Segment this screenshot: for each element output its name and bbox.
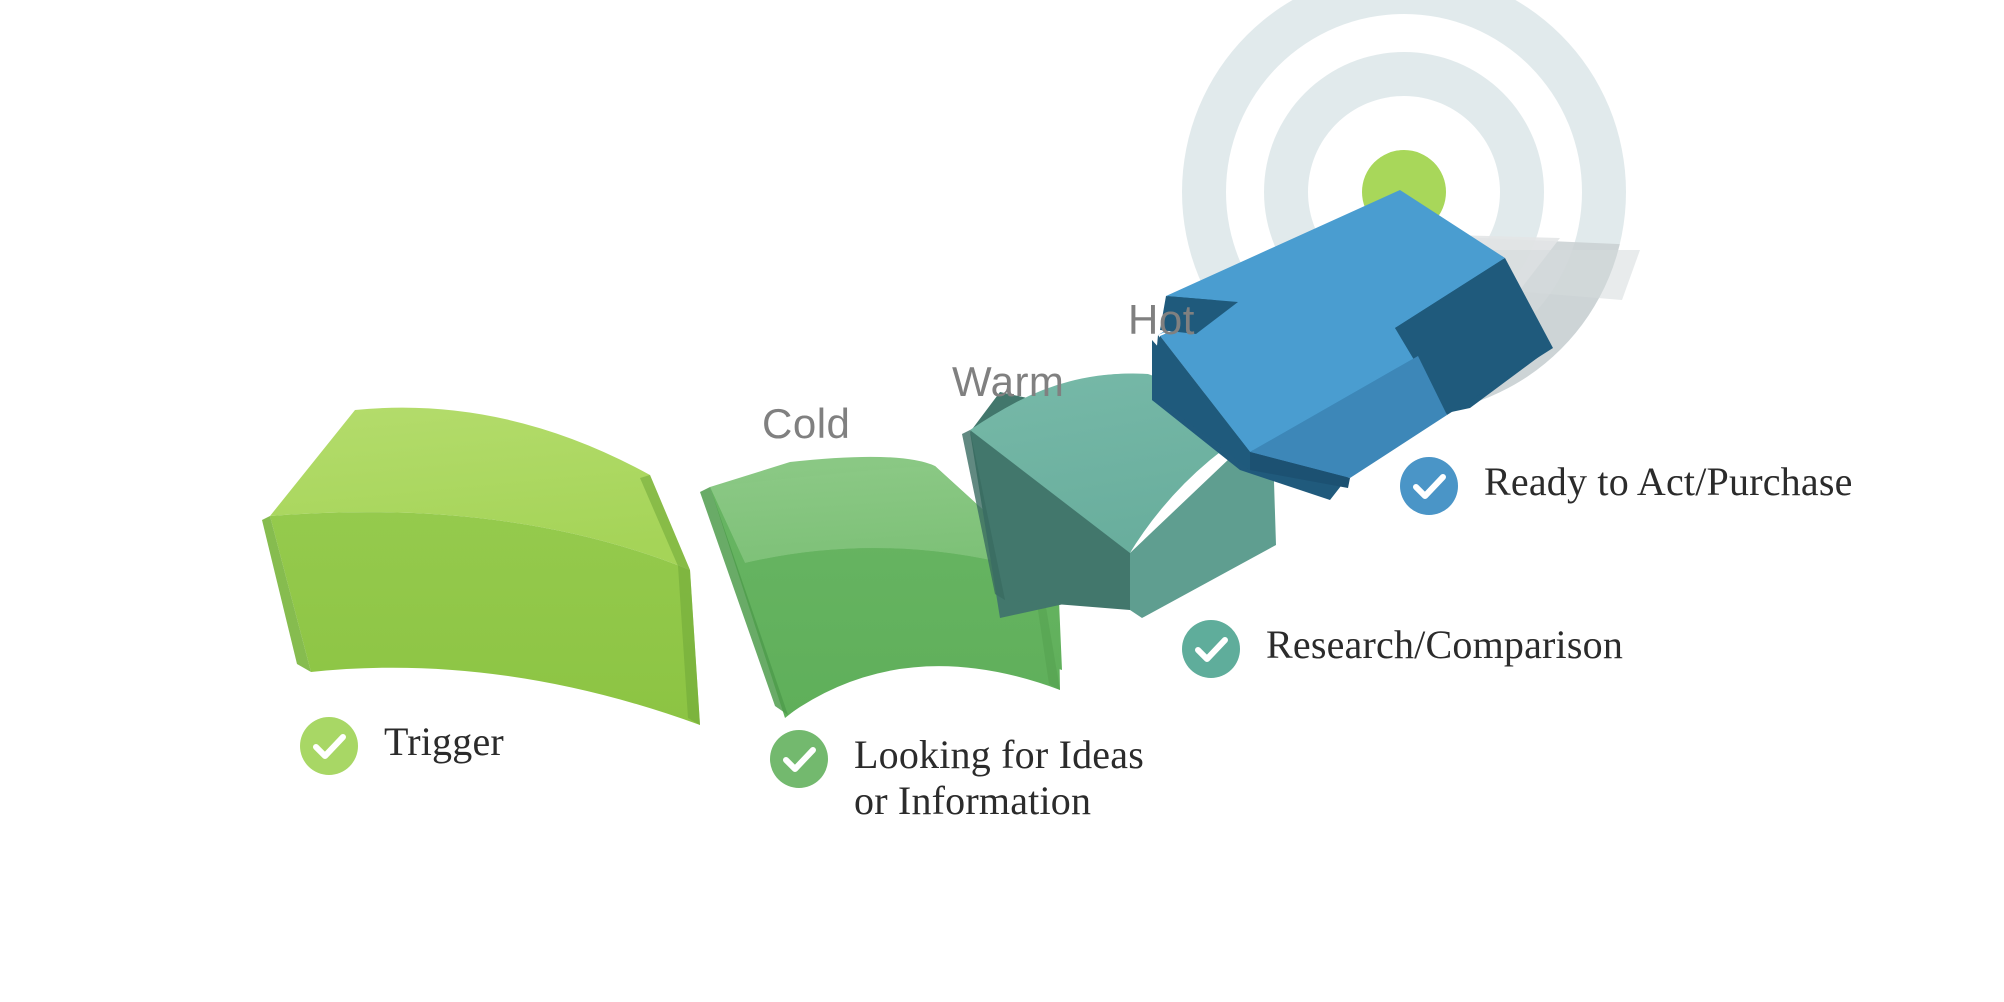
step-block-trigger[interactable]	[262, 408, 700, 725]
legend-item-looking[interactable]: Looking for Ideas or Information	[770, 728, 1144, 823]
legend-label-research: Research/Comparison	[1266, 618, 1623, 668]
check-icon	[1400, 457, 1458, 515]
legend-line-1: Looking for Ideas	[854, 732, 1144, 777]
temp-label-warm: Warm	[952, 358, 1064, 406]
legend-line-1: Ready to Act/Purchase	[1484, 459, 1853, 504]
check-icon	[300, 717, 358, 775]
temp-label-hot: Hot	[1128, 296, 1195, 344]
legend-line-2: or Information	[854, 778, 1144, 824]
legend-label-trigger: Trigger	[384, 715, 504, 765]
legend-item-ready[interactable]: Ready to Act/Purchase	[1400, 455, 1853, 515]
legend-label-looking: Looking for Ideas or Information	[854, 728, 1144, 823]
legend-line-1: Research/Comparison	[1266, 622, 1623, 667]
check-icon	[770, 730, 828, 788]
temp-label-cold: Cold	[762, 400, 850, 448]
legend-label-ready: Ready to Act/Purchase	[1484, 455, 1853, 505]
check-icon	[1182, 620, 1240, 678]
diagram-canvas: Cold Warm Hot Trigger Looking for Ideas …	[0, 0, 2004, 1002]
legend-line-1: Trigger	[384, 719, 504, 764]
legend-item-trigger[interactable]: Trigger	[300, 715, 504, 775]
legend-item-research[interactable]: Research/Comparison	[1182, 618, 1623, 678]
